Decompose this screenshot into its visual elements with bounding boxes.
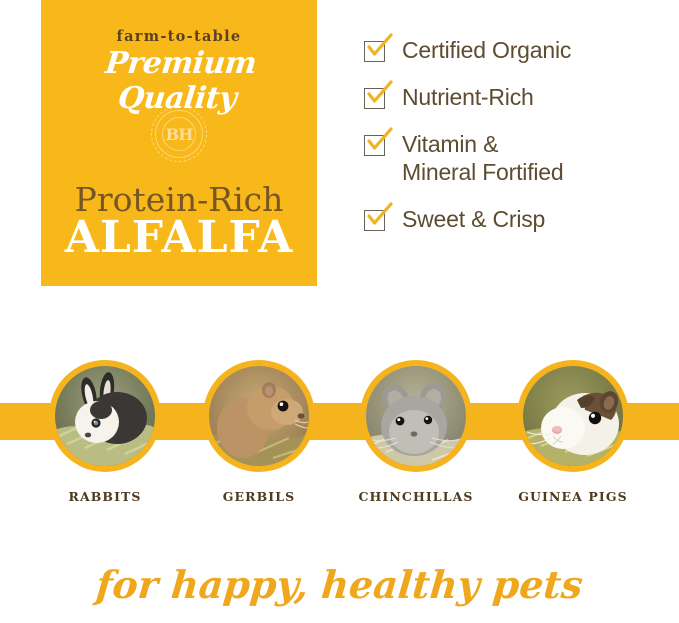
- pet-circle-ring: [360, 360, 472, 472]
- checklist-item-line1: Nutrient-Rich: [402, 84, 534, 110]
- checklist-item-line2: Mineral Fortified: [402, 158, 564, 186]
- checklist-item-line1: Certified Organic: [402, 37, 571, 63]
- pet-circle-ring: [517, 360, 629, 472]
- product-name-text: ALFALFA: [41, 216, 317, 260]
- checklist-item-line1: Vitamin &: [402, 131, 498, 157]
- tagline-text: for happy, healthy pets: [0, 562, 679, 607]
- pet-item-gerbils: GERBILS: [194, 360, 324, 504]
- check-mark-icon: [365, 34, 393, 62]
- chinchilla-photo: [366, 366, 466, 466]
- rabbit-photo: [55, 366, 155, 466]
- check-mark-icon: [365, 81, 393, 109]
- check-mark-icon: [365, 203, 393, 231]
- checkbox-checked-icon: [364, 88, 387, 111]
- pet-item-chinchillas: CHINCHILLAS: [351, 360, 481, 504]
- checkbox-checked-icon: [364, 41, 387, 64]
- checklist-item-label: Sweet & Crisp: [402, 205, 545, 233]
- guinea-pig-photo: [523, 366, 623, 466]
- pet-label: GERBILS: [194, 489, 324, 504]
- checklist-item: Sweet & Crisp: [364, 205, 664, 233]
- pet-label: CHINCHILLAS: [351, 489, 481, 504]
- checklist-item-label: Certified Organic: [402, 36, 571, 64]
- checkbox-checked-icon: [364, 210, 387, 233]
- gerbil-photo: [209, 366, 309, 466]
- seal-monogram-text: BH: [151, 106, 207, 162]
- pet-item-guinea-pigs: GUINEA PIGS: [508, 360, 638, 504]
- brand-panel: farm-to-table Premium Quality BH Protein…: [41, 0, 317, 286]
- feature-checklist: Certified Organic Nutrient-Rich Vitamin …: [364, 36, 664, 252]
- pet-item-rabbits: RABBITS: [40, 360, 170, 504]
- pet-label: RABBITS: [40, 489, 170, 504]
- pet-circle-ring: [203, 360, 315, 472]
- checklist-item-line1: Sweet & Crisp: [402, 206, 545, 232]
- eyebrow-text: farm-to-table: [41, 28, 317, 45]
- checklist-item: Nutrient-Rich: [364, 83, 664, 111]
- pet-label: GUINEA PIGS: [508, 489, 638, 504]
- check-mark-icon: [365, 128, 393, 156]
- pet-circle-ring: [49, 360, 161, 472]
- checklist-item: Certified Organic: [364, 36, 664, 64]
- pet-list: RABBITS: [0, 360, 679, 520]
- checklist-item-label: Nutrient-Rich: [402, 83, 534, 111]
- brand-seal-icon: BH: [151, 106, 207, 162]
- checklist-item: Vitamin & Mineral Fortified: [364, 130, 664, 186]
- checkbox-checked-icon: [364, 135, 387, 158]
- checklist-item-label: Vitamin & Mineral Fortified: [402, 130, 564, 186]
